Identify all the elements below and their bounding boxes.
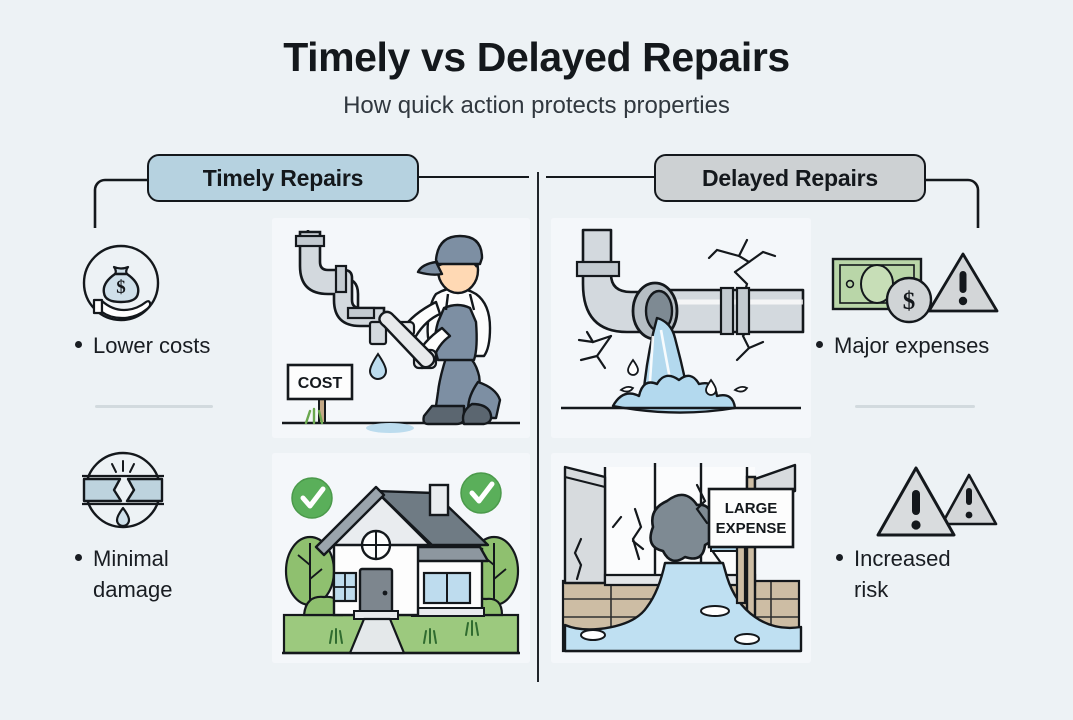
cost-sign-label: COST	[298, 375, 343, 392]
double-warning-triangle-icon	[876, 462, 1001, 544]
check-badge-right-icon	[461, 473, 501, 513]
check-badge-left-icon	[292, 478, 332, 518]
section-header-delayed[interactable]: Delayed Repairs	[654, 154, 926, 202]
left-item-1-text: Minimal damage	[75, 543, 275, 605]
left-item-1: Minimal damage	[75, 543, 275, 605]
right-item-0-line1: Major expenses	[834, 333, 989, 358]
bullet-icon	[816, 341, 823, 348]
bullet-icon	[836, 554, 843, 561]
left-item-1-line2: damage	[93, 577, 173, 602]
left-item-0-text: Lower costs	[75, 330, 275, 361]
left-item-0: Lower costs	[75, 330, 275, 361]
plumber-repairing-pipe-illustration: COST	[272, 218, 530, 438]
left-item-1-line1: Minimal	[93, 546, 169, 571]
flooded-damaged-interior-illustration: LARGE EXPENSE	[551, 453, 811, 663]
section-header-timely-label: Timely Repairs	[203, 165, 363, 192]
right-item-1: Increased risk	[836, 543, 1066, 605]
left-item-0-line1: Lower costs	[93, 333, 210, 358]
page-subtitle: How quick action protects properties	[0, 92, 1073, 120]
left-separator-0	[95, 405, 213, 408]
svg-text:$: $	[903, 288, 916, 315]
right-inner-connector	[546, 176, 656, 178]
right-item-1-text: Increased risk	[836, 543, 1066, 605]
cracked-pipe-drip-icon	[78, 450, 168, 536]
section-header-delayed-label: Delayed Repairs	[702, 165, 878, 192]
infographic-root: Timely vs Delayed Repairs How quick acti…	[0, 0, 1073, 720]
burst-pipe-gushing-water-illustration	[551, 218, 811, 438]
intact-house-with-checkmarks-illustration	[272, 453, 530, 663]
expense-sign-line2: EXPENSE	[716, 520, 787, 537]
center-divider	[537, 172, 539, 682]
banknote-coin-warning-icon: $	[830, 245, 1000, 325]
right-item-0: Major expenses	[816, 330, 1046, 361]
section-header-timely[interactable]: Timely Repairs	[147, 154, 419, 202]
right-item-0-text: Major expenses	[816, 330, 1046, 361]
money-bag-in-hand-icon: $	[78, 243, 164, 329]
right-item-1-line2: risk	[854, 577, 888, 602]
bullet-icon	[75, 554, 82, 561]
bullet-icon	[75, 341, 82, 348]
expense-sign-line1: LARGE	[725, 500, 778, 517]
right-separator-0	[855, 405, 975, 408]
left-inner-connector	[419, 176, 529, 178]
right-item-1-line1: Increased	[854, 546, 951, 571]
svg-text:$: $	[116, 277, 126, 298]
page-title: Timely vs Delayed Repairs	[0, 34, 1073, 81]
